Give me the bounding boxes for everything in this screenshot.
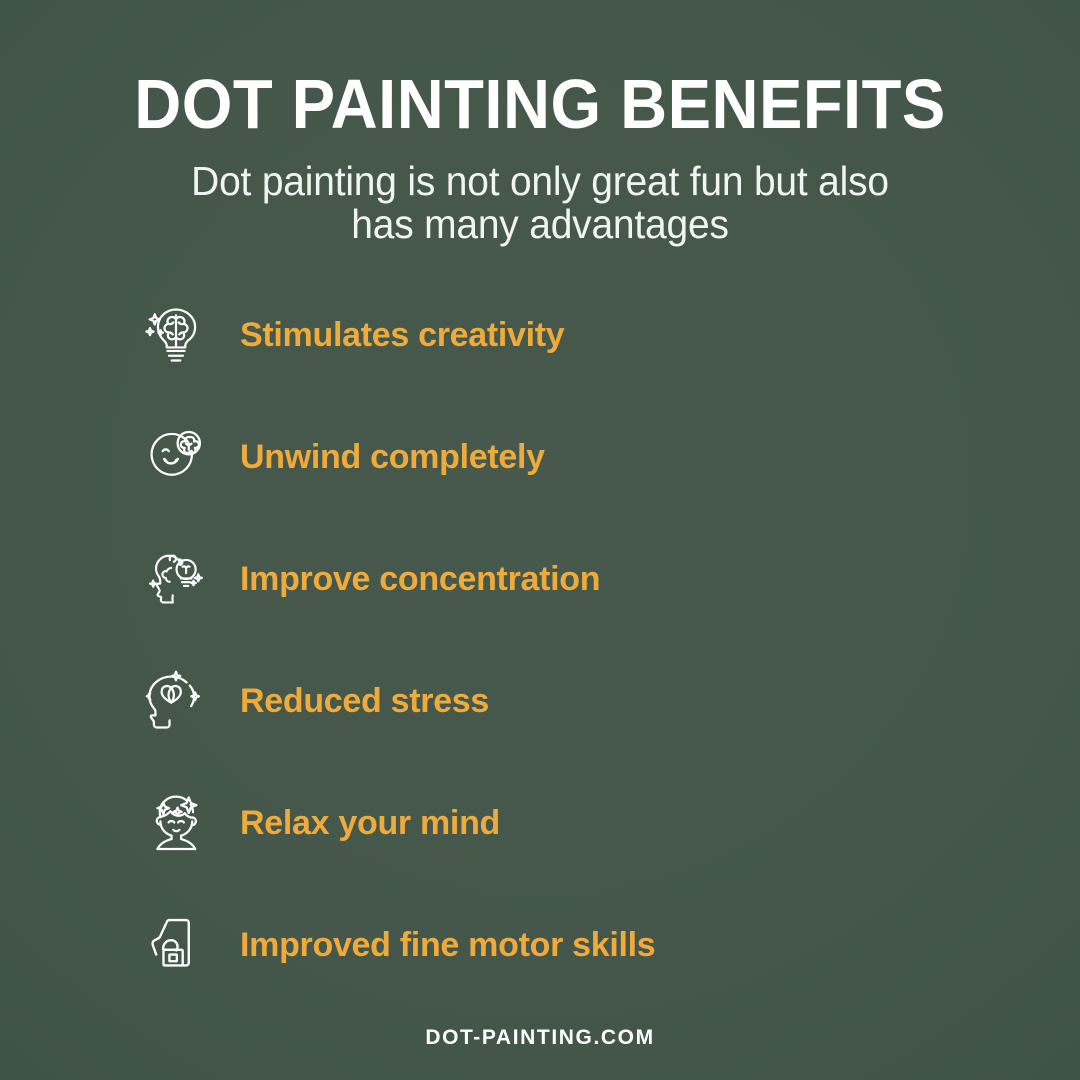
hand-holding-block-icon — [140, 909, 212, 981]
list-item: Reduced stress — [0, 662, 1080, 739]
list-item: Unwind completely — [0, 418, 1080, 495]
benefit-label: Improve concentration — [240, 559, 600, 599]
benefit-label: Improved fine motor skills — [240, 925, 655, 965]
smiling-face-flower-icon — [140, 421, 212, 493]
benefits-list: Stimulates creativity Unwind completely — [0, 296, 1080, 983]
benefit-label: Relax your mind — [240, 803, 500, 843]
page-subtitle: Dot painting is not only great fun but a… — [165, 160, 916, 246]
relaxed-face-sparkle-icon — [140, 787, 212, 859]
head-profile-lightbulb-icon — [140, 543, 212, 615]
benefit-label: Unwind completely — [240, 437, 545, 477]
list-item: Improve concentration — [0, 540, 1080, 617]
poster-footer: DOT-PAINTING.COM — [0, 1026, 1080, 1050]
poster-header: DOT PAINTING BENEFITS Dot painting is no… — [0, 66, 1080, 246]
poster-canvas: DOT PAINTING BENEFITS Dot painting is no… — [0, 0, 1080, 1080]
list-item: Stimulates creativity — [0, 296, 1080, 373]
website-url: DOT-PAINTING.COM — [425, 1026, 654, 1049]
benefit-label: Reduced stress — [240, 681, 489, 721]
list-item: Relax your mind — [0, 784, 1080, 861]
list-item: Improved fine motor skills — [0, 906, 1080, 983]
benefit-label: Stimulates creativity — [240, 315, 564, 355]
page-title: DOT PAINTING BENEFITS — [103, 66, 977, 142]
lightbulb-brain-sparkle-icon — [140, 299, 212, 371]
head-profile-lotus-icon — [140, 665, 212, 737]
